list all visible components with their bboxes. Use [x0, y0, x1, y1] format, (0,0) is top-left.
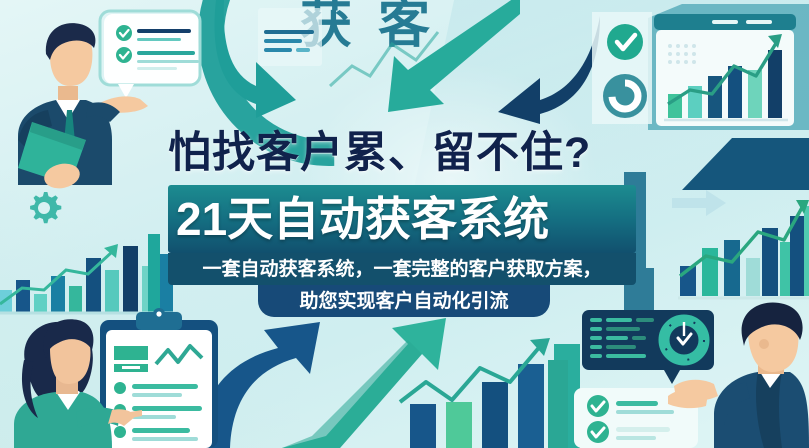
growth-bar-chart-left — [0, 218, 180, 318]
analytics-speech-bubble — [582, 310, 714, 384]
check-badge-icon — [607, 24, 643, 60]
decorative-slab-teal — [624, 172, 654, 312]
check-icon — [116, 47, 132, 63]
decorative-slab-teal-bottom — [548, 360, 574, 448]
report-clipboard — [100, 308, 218, 448]
donut-progress-icon — [603, 74, 647, 118]
check-icon — [116, 25, 132, 41]
checklist-speech-bubble — [100, 11, 200, 98]
mini-line-chart — [330, 30, 440, 92]
bottom-left-illustration — [0, 306, 232, 448]
decorative-wedge-navy — [672, 138, 809, 190]
top-left-illustration — [0, 0, 200, 185]
growth-bar-chart-right — [678, 200, 809, 305]
down-arrow-navy-right — [480, 14, 600, 124]
promotional-poster: 获客 — [0, 0, 809, 448]
down-arrow-teal-left — [214, 0, 306, 118]
bottom-right-illustration — [568, 302, 809, 448]
top-right-illustration — [592, 4, 809, 140]
